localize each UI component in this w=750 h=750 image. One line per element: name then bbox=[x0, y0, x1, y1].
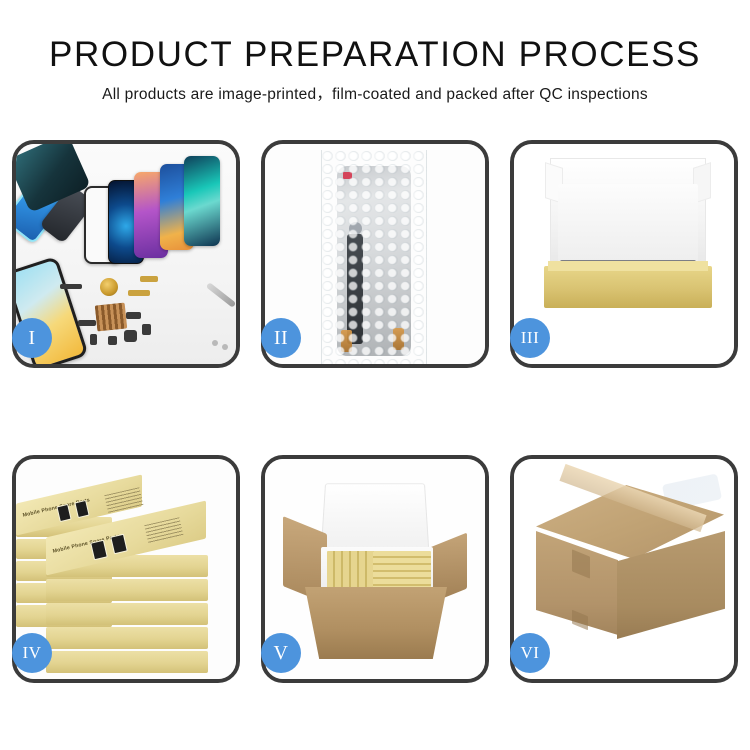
gold-boxes-in-carton bbox=[373, 551, 431, 589]
connector-left bbox=[341, 330, 352, 352]
step-badge-3: III bbox=[510, 318, 550, 358]
camera-module-part bbox=[126, 312, 141, 319]
sensor-part bbox=[108, 336, 117, 345]
flex-cable-part bbox=[60, 284, 82, 289]
chip-grid-part bbox=[95, 303, 128, 332]
page-title: PRODUCT PREPARATION PROCESS bbox=[0, 34, 750, 76]
process-steps-grid: I II III bbox=[12, 140, 738, 683]
small-connector-part bbox=[78, 320, 96, 326]
button-part bbox=[90, 334, 97, 345]
screw-part bbox=[222, 344, 228, 350]
process-step-panel-3[interactable]: III bbox=[510, 140, 738, 368]
step-badge-4: IV bbox=[12, 633, 52, 673]
stacked-box bbox=[46, 627, 208, 649]
foam-inner-sheet bbox=[558, 184, 698, 268]
step-badge-1: I bbox=[12, 318, 52, 358]
page-subtitle: All products are image-printed，film-coat… bbox=[0, 85, 750, 105]
teal-display-phone bbox=[184, 156, 220, 246]
screw-part bbox=[212, 340, 218, 346]
process-step-panel-2[interactable]: II bbox=[261, 140, 489, 368]
gold-box-tray bbox=[544, 266, 712, 308]
page-header: PRODUCT PREPARATION PROCESS All products… bbox=[0, 0, 750, 105]
battery-tab-part bbox=[142, 324, 151, 335]
step-badge-2: II bbox=[261, 318, 301, 358]
copper-coil-part bbox=[100, 278, 118, 296]
carton-body bbox=[305, 587, 447, 659]
step-badge-5: V bbox=[261, 633, 301, 673]
process-step-panel-1[interactable]: I bbox=[12, 140, 240, 368]
process-step-panel-4[interactable]: Mobile Phone Spare Parts Mobile Phone Sp… bbox=[12, 455, 240, 683]
stacked-box bbox=[46, 651, 208, 673]
speaker-part bbox=[124, 330, 137, 342]
step-badge-6: VI bbox=[510, 633, 550, 673]
red-label-tab bbox=[343, 172, 352, 179]
foam-lid-open bbox=[321, 483, 429, 549]
connector-right bbox=[393, 328, 404, 350]
stacked-box bbox=[46, 603, 208, 625]
process-step-panel-5[interactable]: V bbox=[261, 455, 489, 683]
gold-connector-part bbox=[140, 276, 158, 282]
stacked-box bbox=[46, 579, 208, 601]
process-step-panel-6[interactable]: VI bbox=[510, 455, 738, 683]
flex-cable-strip bbox=[347, 234, 363, 344]
gold-flex-part bbox=[128, 290, 150, 296]
